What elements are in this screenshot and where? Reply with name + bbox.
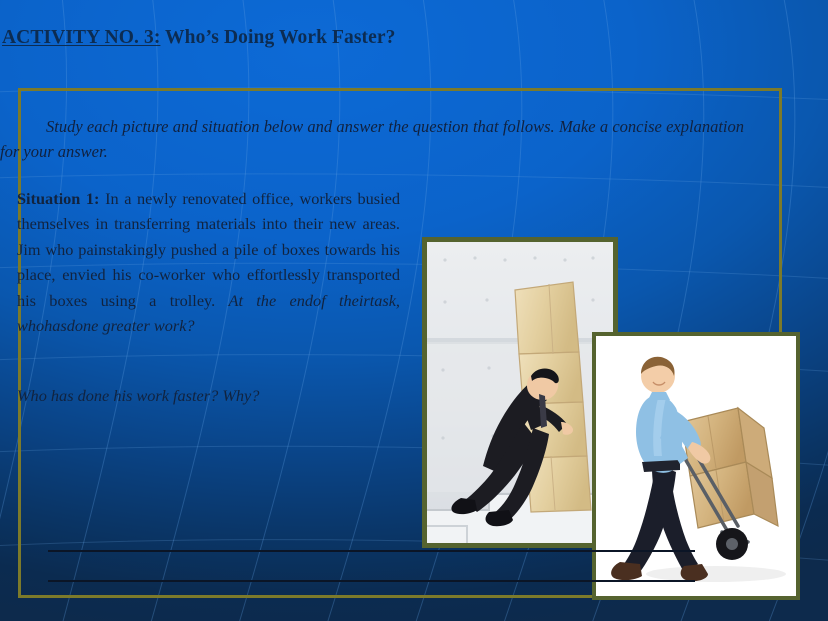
slide-canvas: ACTIVITY NO. 3: Who’s Doing Work Faster?… [0, 0, 828, 621]
photo-man-pushing-boxes [422, 237, 618, 548]
instructions-body: Study each picture and situation below a… [0, 117, 744, 161]
title-activity-number: ACTIVITY NO. 3: [2, 27, 160, 48]
situation-paragraph: Situation 1: In a newly renovated office… [17, 186, 400, 338]
answer-line-1[interactable] [48, 550, 695, 552]
page-title: ACTIVITY NO. 3: Who’s Doing Work Faster? [2, 27, 822, 49]
situation-label: Situation 1: [17, 189, 99, 208]
photo-man-with-trolley [592, 332, 800, 600]
answer-line-2[interactable] [48, 580, 695, 582]
follow-up-question: Who has done his work faster? Why? [17, 383, 400, 408]
man-with-trolley-illustration [596, 336, 796, 596]
title-question: Who’s Doing Work Faster? [160, 27, 395, 48]
instructions-text: Study each picture and situation below a… [0, 114, 744, 164]
man-pushing-boxes-illustration [427, 242, 613, 543]
